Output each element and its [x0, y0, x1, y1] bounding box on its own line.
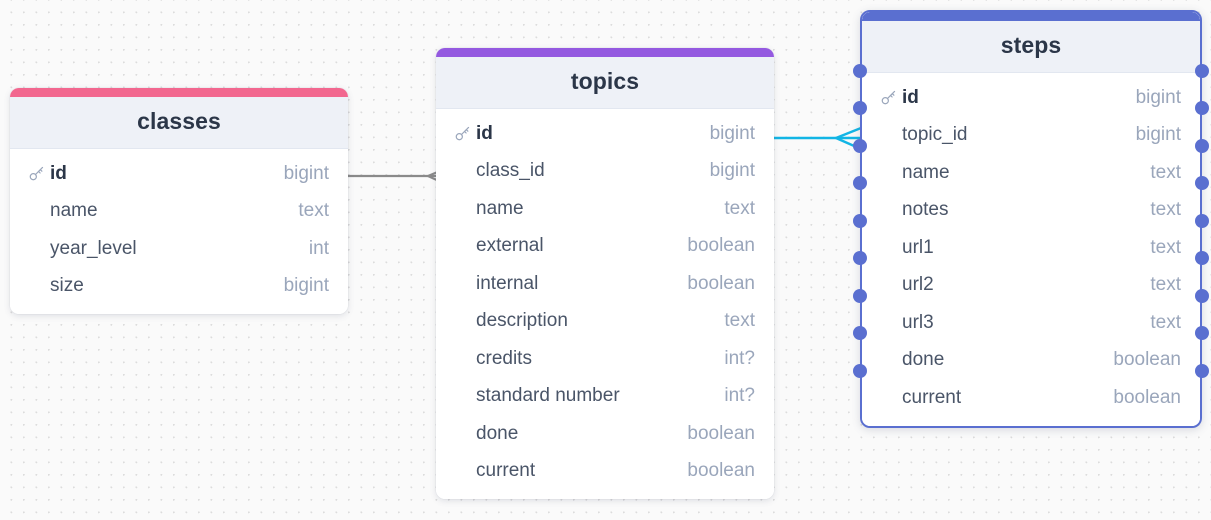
connection-port-right-current[interactable] — [1195, 364, 1209, 378]
field-row-steps-notes[interactable]: notestext — [862, 192, 1200, 230]
table-header-steps: steps — [862, 21, 1200, 73]
connection-port-right-id[interactable] — [1195, 64, 1209, 78]
connection-port-left-url3[interactable] — [853, 289, 867, 303]
field-label-group: standard number — [454, 385, 620, 407]
field-label-group: notes — [880, 199, 948, 221]
field-label-group: name — [28, 200, 98, 222]
field-name: external — [476, 235, 544, 257]
field-name: class_id — [476, 160, 545, 182]
field-name: url2 — [902, 274, 934, 296]
field-label-group: external — [454, 235, 544, 257]
field-type: int — [297, 238, 329, 260]
field-type: bigint — [698, 123, 755, 145]
field-name: name — [476, 198, 524, 220]
field-label-group: url3 — [880, 312, 934, 334]
field-type: bigint — [272, 163, 329, 185]
table-accent-bar-classes — [10, 88, 348, 97]
table-card-steps[interactable]: steps idbiginttopic_idbigintnametextnote… — [860, 10, 1202, 428]
field-row-steps-done[interactable]: doneboolean — [862, 342, 1200, 380]
field-row-topics-class-id[interactable]: class_idbigint — [436, 153, 774, 191]
connection-port-right-url1[interactable] — [1195, 214, 1209, 228]
field-row-steps-url2[interactable]: url2text — [862, 267, 1200, 305]
field-label-group: current — [880, 387, 961, 409]
field-type: text — [286, 200, 329, 222]
field-name: done — [476, 423, 518, 445]
field-name: name — [902, 162, 950, 184]
field-row-topics-id[interactable]: idbigint — [436, 115, 774, 153]
field-label-group: url2 — [880, 274, 934, 296]
field-list-classes: idbigintnametextyear_levelintsizebigint — [10, 149, 348, 314]
field-row-topics-credits[interactable]: creditsint? — [436, 340, 774, 378]
field-list-steps: idbiginttopic_idbigintnametextnotestextu… — [862, 73, 1200, 426]
field-type: text — [1138, 199, 1181, 221]
field-name: topic_id — [902, 124, 968, 146]
field-type: text — [712, 310, 755, 332]
field-row-steps-url3[interactable]: url3text — [862, 304, 1200, 342]
connection-port-right-url3[interactable] — [1195, 289, 1209, 303]
field-label-group: class_id — [454, 160, 545, 182]
field-label-group: name — [880, 162, 950, 184]
field-row-classes-size[interactable]: sizebigint — [10, 268, 348, 306]
key-icon — [880, 89, 902, 106]
field-name: description — [476, 310, 568, 332]
field-name: notes — [902, 199, 948, 221]
connection-port-left-id[interactable] — [853, 64, 867, 78]
field-row-classes-id[interactable]: idbigint — [10, 155, 348, 193]
field-row-classes-year-level[interactable]: year_levelint — [10, 230, 348, 268]
field-label-group: topic_id — [880, 124, 968, 146]
field-type: bigint — [698, 160, 755, 182]
connection-port-right-topic-id[interactable] — [1195, 101, 1209, 115]
field-label-group: id — [454, 123, 493, 145]
field-row-steps-current[interactable]: currentboolean — [862, 379, 1200, 417]
table-title-classes: classes — [10, 108, 348, 135]
connection-port-right-url2[interactable] — [1195, 251, 1209, 265]
field-name: url1 — [902, 237, 934, 259]
field-type: boolean — [1101, 349, 1181, 371]
field-row-steps-topic-id[interactable]: topic_idbigint — [862, 117, 1200, 155]
table-title-topics: topics — [436, 68, 774, 95]
connection-port-right-done[interactable] — [1195, 326, 1209, 340]
table-card-topics[interactable]: topics idbigintclass_idbigintnametextext… — [436, 48, 774, 499]
field-row-topics-standard-number[interactable]: standard numberint? — [436, 378, 774, 416]
field-type: bigint — [272, 275, 329, 297]
field-label-group: internal — [454, 273, 538, 295]
field-label-group: year_level — [28, 238, 137, 260]
field-type: text — [1138, 274, 1181, 296]
field-type: boolean — [675, 460, 755, 482]
field-row-classes-name[interactable]: nametext — [10, 193, 348, 231]
field-label-group: credits — [454, 348, 532, 370]
key-icon — [28, 165, 50, 182]
table-accent-bar-steps — [862, 12, 1200, 21]
field-name: credits — [476, 348, 532, 370]
field-name: url3 — [902, 312, 934, 334]
key-icon — [454, 125, 476, 142]
field-row-topics-external[interactable]: externalboolean — [436, 228, 774, 266]
field-type: text — [1138, 237, 1181, 259]
field-list-topics: idbigintclass_idbigintnametextexternalbo… — [436, 109, 774, 499]
field-label-group: url1 — [880, 237, 934, 259]
relation-topics-steps[interactable] — [774, 128, 861, 149]
field-name: standard number — [476, 385, 620, 407]
table-header-classes: classes — [10, 97, 348, 149]
field-row-steps-url1[interactable]: url1text — [862, 229, 1200, 267]
connection-port-left-url1[interactable] — [853, 214, 867, 228]
table-accent-bar-topics — [436, 48, 774, 57]
field-type: int? — [712, 348, 755, 370]
connection-port-right-notes[interactable] — [1195, 176, 1209, 190]
field-label-group: description — [454, 310, 568, 332]
field-name: current — [476, 460, 535, 482]
field-row-steps-name[interactable]: nametext — [862, 154, 1200, 192]
field-type: bigint — [1124, 124, 1181, 146]
field-row-topics-done[interactable]: doneboolean — [436, 415, 774, 453]
field-row-topics-internal[interactable]: internalboolean — [436, 265, 774, 303]
field-type: boolean — [675, 273, 755, 295]
field-row-topics-name[interactable]: nametext — [436, 190, 774, 228]
field-label-group: done — [880, 349, 944, 371]
field-name: done — [902, 349, 944, 371]
field-type: int? — [712, 385, 755, 407]
field-label-group: size — [28, 275, 84, 297]
table-header-topics: topics — [436, 57, 774, 109]
field-name: current — [902, 387, 961, 409]
field-type: text — [1138, 312, 1181, 334]
field-name: name — [50, 200, 98, 222]
field-type: boolean — [1101, 387, 1181, 409]
field-type: boolean — [675, 235, 755, 257]
field-type: text — [1138, 162, 1181, 184]
field-type: bigint — [1124, 87, 1181, 109]
field-type: text — [712, 198, 755, 220]
field-name: internal — [476, 273, 538, 295]
field-row-topics-current[interactable]: currentboolean — [436, 453, 774, 491]
field-name: id — [476, 123, 493, 145]
field-label-group: name — [454, 198, 524, 220]
connection-port-left-name[interactable] — [853, 139, 867, 153]
field-name: id — [50, 163, 67, 185]
field-label-group: done — [454, 423, 518, 445]
field-label-group: id — [28, 163, 67, 185]
table-card-classes[interactable]: classes idbigintnametextyear_levelintsiz… — [10, 88, 348, 314]
field-name: id — [902, 87, 919, 109]
connection-port-left-current[interactable] — [853, 364, 867, 378]
field-name: size — [50, 275, 84, 297]
field-name: year_level — [50, 238, 137, 260]
table-title-steps: steps — [862, 32, 1200, 59]
field-label-group: current — [454, 460, 535, 482]
connection-port-right-name[interactable] — [1195, 139, 1209, 153]
field-row-steps-id[interactable]: idbigint — [862, 79, 1200, 117]
field-type: boolean — [675, 423, 755, 445]
field-row-topics-description[interactable]: descriptiontext — [436, 303, 774, 341]
field-label-group: id — [880, 87, 919, 109]
